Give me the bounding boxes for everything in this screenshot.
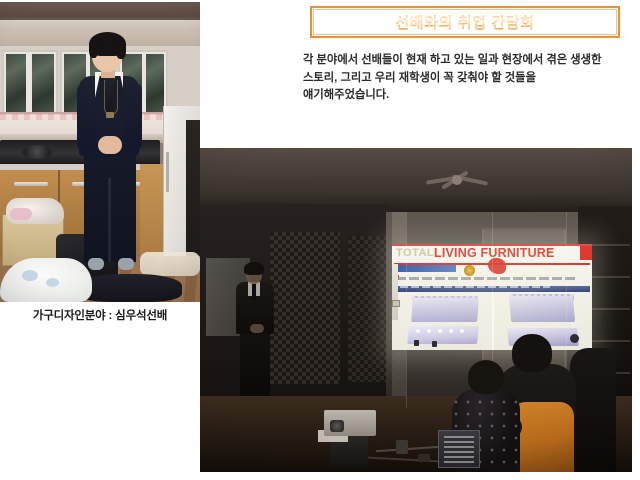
mattress-foot [414, 340, 419, 346]
right-photo-scene: TOTAL LIVING FURNITURE [200, 148, 632, 472]
mattress-tufting [414, 327, 471, 335]
window-glass [6, 54, 26, 112]
audience-member-2-head [512, 334, 552, 372]
power-adapter [396, 440, 408, 454]
projector-lens-icon [330, 420, 344, 432]
refrigerator-handle [166, 152, 169, 192]
fan-hub [452, 175, 462, 185]
window-frame-left [2, 50, 58, 116]
right-photo: TOTAL LIVING FURNITURE [200, 148, 632, 472]
speaker-hands [98, 136, 122, 154]
screen-edge-line [406, 212, 407, 408]
slide-canvas: 가구디자인분야 : 심우석선배 선배와의 취업 간담회 각 분야에서 선배들이 … [0, 0, 640, 480]
trouser-crease [108, 178, 111, 262]
mesh-door [270, 232, 340, 384]
stove-burner [22, 145, 52, 159]
left-photo-caption: 가구디자인분야 : 심우석선배 [0, 307, 200, 323]
page-title: 선배와의 취업 간담회 [395, 12, 534, 33]
power-plug [418, 454, 430, 462]
presenter-necktie [252, 284, 256, 300]
slide-body-text-line [396, 277, 576, 280]
left-photo-scene [0, 2, 200, 302]
presenter-hair [244, 262, 264, 275]
red-splash-icon [488, 258, 506, 274]
slide-blue-band-text [400, 286, 550, 288]
cushion-flower [46, 278, 59, 287]
title-box: 선배와의 취업 간담회 [310, 6, 620, 38]
window-glass [32, 54, 54, 112]
speaker-hair-side [116, 40, 126, 59]
name-badge [106, 112, 114, 118]
window-glass [146, 54, 164, 112]
audience-member-3 [570, 348, 616, 472]
floor-rug [140, 252, 200, 276]
speaker-hair-side [89, 40, 98, 58]
slide-navbar [394, 265, 456, 272]
speaker-arm-left [77, 82, 95, 152]
speaker-sock-left [88, 258, 104, 270]
presenter-hands [250, 324, 264, 333]
speaker-sock-right [118, 258, 134, 270]
presenter-legs [240, 330, 270, 396]
slide-title-prefix: TOTAL [396, 247, 434, 259]
speaker-arm-right [124, 82, 142, 152]
left-photo [0, 2, 200, 302]
audience-member-1-head [468, 360, 504, 394]
mattress-product-1 [411, 298, 479, 322]
mattress-foot [432, 341, 437, 347]
cushion-flower [22, 270, 38, 281]
lanyard [104, 80, 118, 115]
slide-left-button-icon [392, 300, 400, 307]
body-paragraph: 각 분야에서 선배들이 현재 하고 있는 일과 현장에서 겪은 생생한 스토리,… [303, 52, 625, 105]
ceiling-fan-icon [426, 172, 488, 188]
award-seal-icon [464, 265, 475, 276]
slide-red-block [580, 246, 592, 260]
slide-left-rail [392, 264, 398, 320]
pink-item [10, 208, 32, 220]
mattress-knob [570, 334, 579, 343]
ceiling [200, 148, 632, 212]
cabinet-handle [14, 182, 48, 186]
laptop-screen-content [444, 436, 474, 464]
